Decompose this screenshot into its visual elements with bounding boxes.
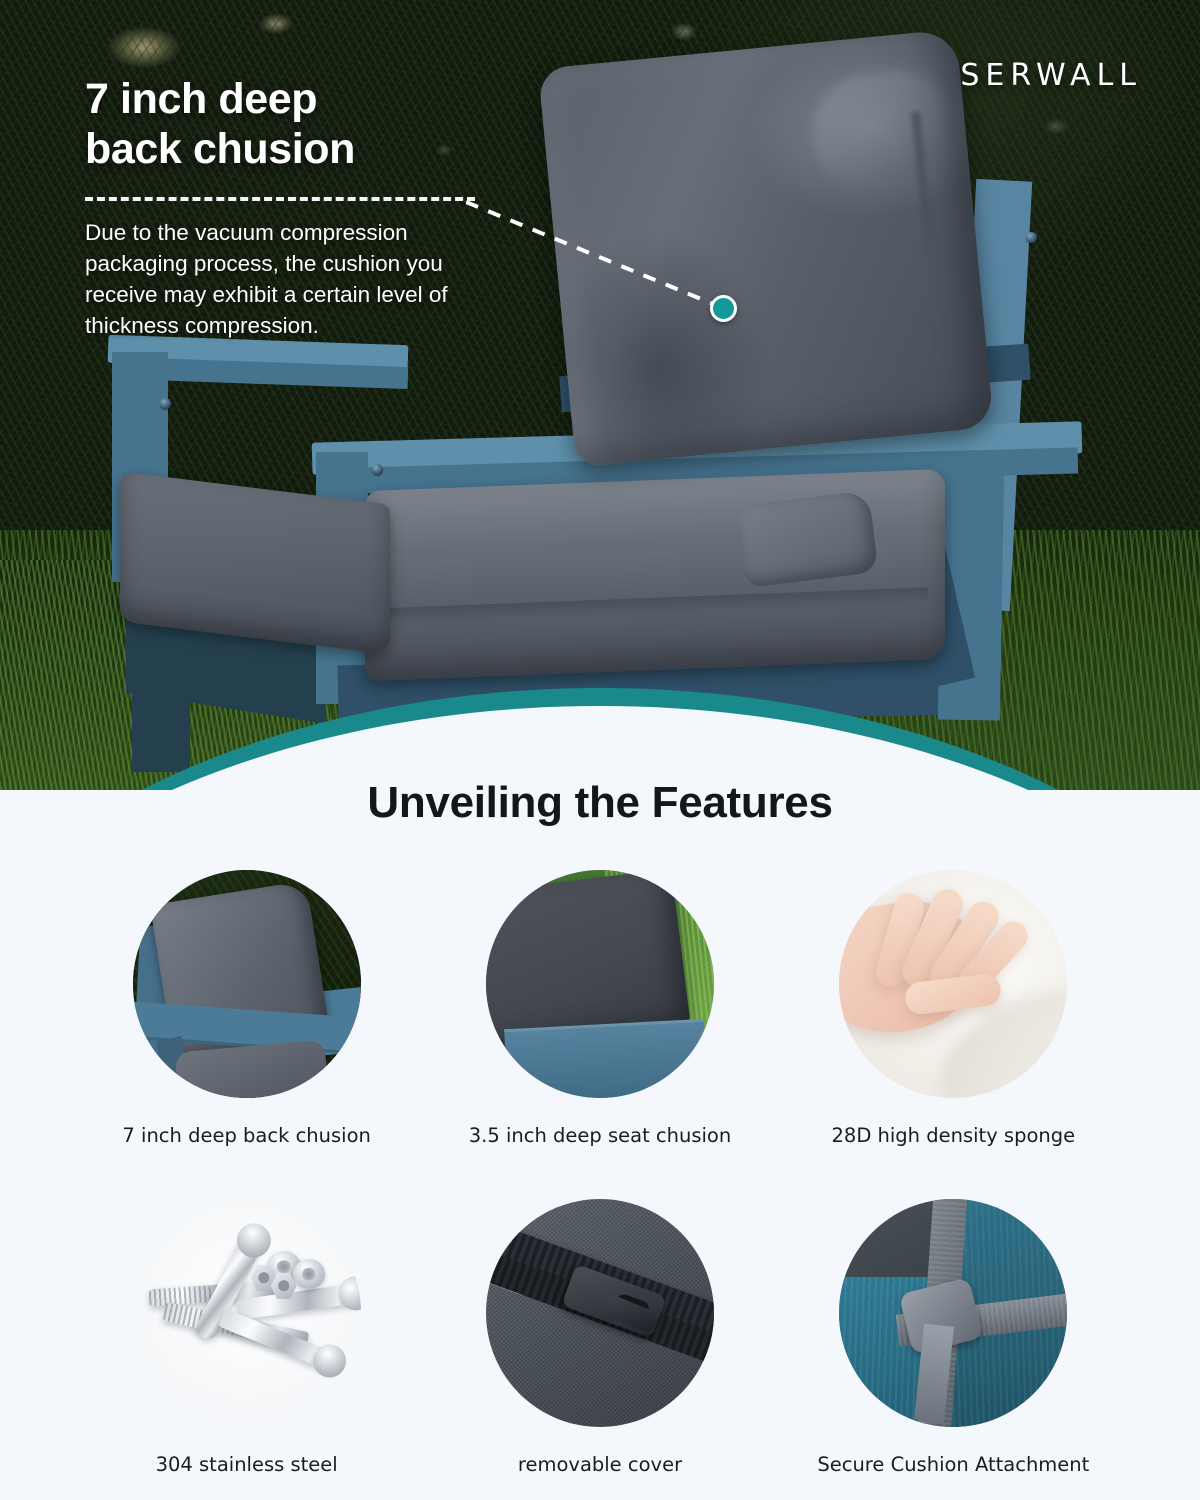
hero-banner: 7 inch deep back chusion Due to the vacu… [0, 0, 1200, 790]
feature-thumbnail-stainless-steel [133, 1199, 361, 1427]
hero-headline: 7 inch deep back chusion [85, 75, 515, 175]
feature-caption: removable cover [518, 1453, 682, 1476]
feature-item[interactable]: 28D high density sponge [777, 870, 1130, 1147]
feature-thumbnail-cushion-attachment [839, 1199, 1067, 1427]
hero-text-block: 7 inch deep back chusion Due to the vacu… [85, 75, 515, 341]
dashed-rule [85, 197, 475, 201]
hero-headline-line1: 7 inch deep [85, 75, 515, 125]
feature-thumbnail-back-cushion [133, 870, 361, 1098]
feature-item[interactable]: 304 stainless steel [70, 1199, 423, 1476]
feature-item[interactable]: removable cover [423, 1199, 776, 1476]
callout-leader-line [466, 200, 734, 316]
thumb-bolt-head [336, 1274, 361, 1312]
feature-caption: 3.5 inch deep seat chusion [469, 1124, 731, 1147]
features-title: Unveiling the Features [0, 778, 1200, 828]
features-grid: 7 inch deep back chusion 3.5 inch deep s… [70, 870, 1130, 1476]
thumb-bolt-head [308, 1339, 351, 1382]
thumb-bolt-threads [148, 1285, 211, 1306]
small-corner-cushion [737, 490, 878, 587]
chair-screw [372, 464, 383, 475]
feature-thumbnail-seat-cushion [486, 870, 714, 1098]
feature-caption: 28D high density sponge [832, 1124, 1076, 1147]
feature-caption: 7 inch deep back chusion [122, 1124, 370, 1147]
thumb-washer [293, 1259, 325, 1289]
feature-caption: Secure Cushion Attachment [817, 1453, 1089, 1476]
feature-item[interactable]: 3.5 inch deep seat chusion [423, 870, 776, 1147]
thumb-chair-slat [504, 1019, 708, 1098]
hero-headline-line2: back chusion [85, 125, 515, 175]
thumb-bolt [218, 1308, 340, 1372]
feature-thumbnail-sponge [839, 870, 1067, 1098]
chair-left-leg [132, 660, 190, 772]
feature-thumbnail-removable-cover [486, 1199, 714, 1427]
feature-caption: 304 stainless steel [156, 1453, 338, 1476]
hero-subcopy: Due to the vacuum compression packaging … [85, 217, 515, 341]
feature-item[interactable]: 7 inch deep back chusion [70, 870, 423, 1147]
brand-logo: SERWALL [960, 58, 1142, 93]
feature-item[interactable]: Secure Cushion Attachment [777, 1199, 1130, 1476]
chair-screw [1026, 232, 1037, 243]
features-section: Unveiling the Features 7 inch deep back … [0, 770, 1200, 1500]
chair-screw [160, 398, 171, 409]
callout-dot [710, 295, 737, 322]
